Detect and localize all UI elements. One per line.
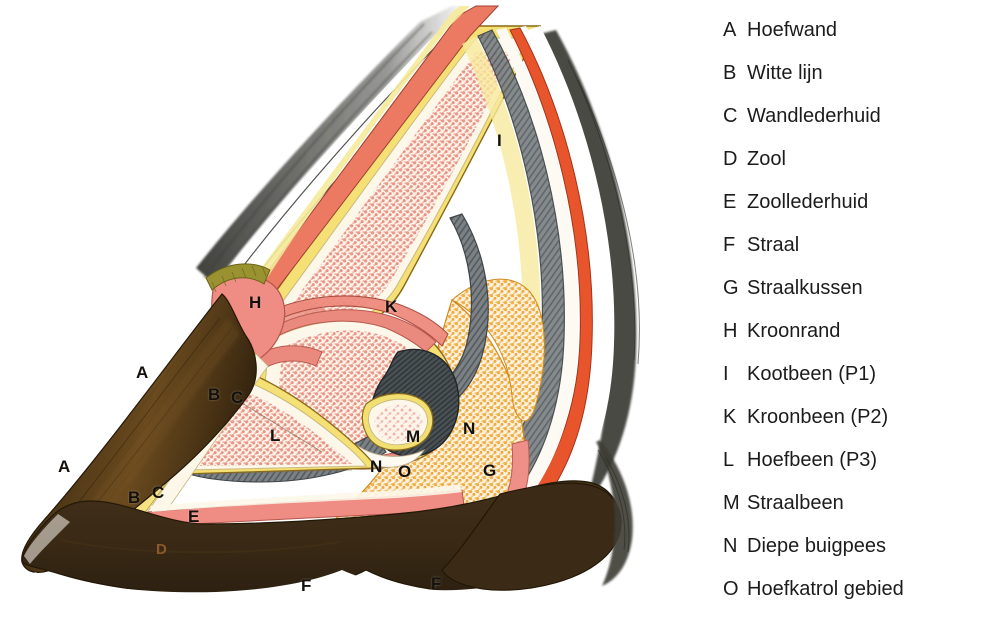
legend-label-F: Straal xyxy=(747,233,799,257)
legend-label-M: Straalbeen xyxy=(747,491,844,515)
legend-item-I: I Kootbeen (P1) xyxy=(700,362,1000,405)
legend-item-N: N Diepe buigpees xyxy=(700,534,1000,577)
legend-item-D: D Zool xyxy=(700,147,1000,190)
legend-list: A Hoefwand B Witte lijn C Wandlederhuid … xyxy=(700,0,1000,641)
legend-item-A: A Hoefwand xyxy=(700,18,1000,61)
legend-label-K: Kroonbeen (P2) xyxy=(747,405,888,429)
legend-item-H: H Kroonrand xyxy=(700,319,1000,362)
bone-navicular-m xyxy=(362,394,432,450)
legend-letter-L: L xyxy=(700,448,747,472)
legend-letter-F: F xyxy=(700,233,747,257)
legend-label-I: Kootbeen (P1) xyxy=(747,362,876,386)
legend-letter-G: G xyxy=(700,276,747,300)
legend-letter-K: K xyxy=(700,405,747,429)
legend-item-L: L Hoefbeen (P3) xyxy=(700,448,1000,491)
legend-letter-C: C xyxy=(700,104,747,128)
legend-label-N: Diepe buigpees xyxy=(747,534,886,558)
legend-letter-O: O xyxy=(700,577,747,601)
legend-item-F: F Straal xyxy=(700,233,1000,276)
legend-label-O: Hoefkatrol gebied xyxy=(747,577,904,601)
legend-label-L: Hoefbeen (P3) xyxy=(747,448,877,472)
legend-label-B: Witte lijn xyxy=(747,61,823,85)
hoof-cross-section-svg xyxy=(0,0,700,641)
legend-label-H: Kroonrand xyxy=(747,319,840,343)
legend-label-G: Straalkussen xyxy=(747,276,863,300)
legend-item-G: G Straalkussen xyxy=(700,276,1000,319)
page-root: A A B C B C D E F F G H I K L M N N O A … xyxy=(0,0,1000,641)
legend-letter-N: N xyxy=(700,534,747,558)
legend-letter-E: E xyxy=(700,190,747,214)
legend-letter-D: D xyxy=(700,147,747,171)
legend-item-K: K Kroonbeen (P2) xyxy=(700,405,1000,448)
legend-label-C: Wandlederhuid xyxy=(747,104,881,128)
legend-letter-M: M xyxy=(700,491,747,515)
hoof-anatomy-illustration: A A B C B C D E F F G H I K L M N N O xyxy=(0,0,700,641)
legend-item-E: E Zoollederhuid xyxy=(700,190,1000,233)
legend-letter-B: B xyxy=(700,61,747,85)
legend-label-A: Hoefwand xyxy=(747,18,837,42)
legend-item-B: B Witte lijn xyxy=(700,61,1000,104)
legend-label-D: Zool xyxy=(747,147,786,171)
legend-label-E: Zoollederhuid xyxy=(747,190,868,214)
legend-letter-A: A xyxy=(700,18,747,42)
legend-letter-I: I xyxy=(700,362,747,386)
legend-item-C: C Wandlederhuid xyxy=(700,104,1000,147)
legend-letter-H: H xyxy=(700,319,747,343)
legend-item-M: M Straalbeen xyxy=(700,491,1000,534)
legend-item-O: O Hoefkatrol gebied xyxy=(700,577,1000,620)
